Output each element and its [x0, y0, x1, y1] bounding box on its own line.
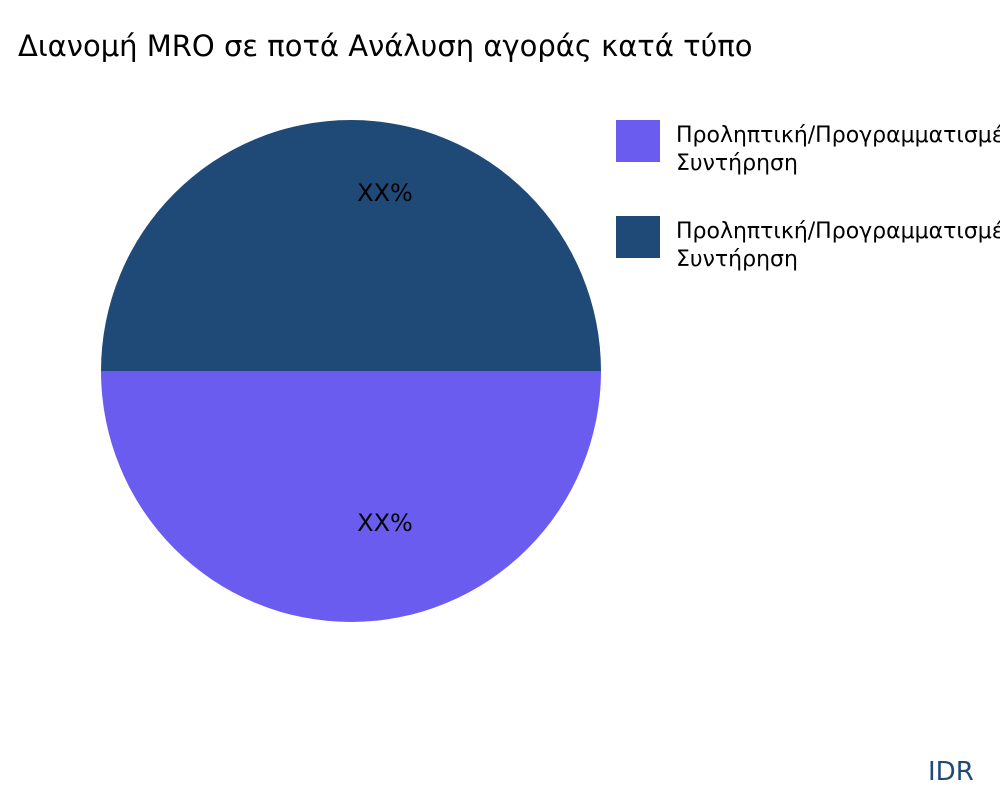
- pie-chart-figure: Διανομή MRO σε ποτά Ανάλυση αγοράς κατά …: [0, 0, 1000, 800]
- legend-item-1[interactable]: Προληπτική/Προγραμματισμένη Συντήρηση: [616, 216, 1000, 274]
- watermark-idr: IDR: [928, 757, 974, 787]
- chart-legend: Προληπτική/Προγραμματισμένη Συντήρηση Πρ…: [616, 120, 1000, 312]
- legend-swatch-preventive-blue-icon: [616, 216, 660, 258]
- legend-label-0: Προληπτική/Προγραμματισμένη Συντήρηση: [676, 120, 1000, 178]
- pie-svg: [101, 120, 601, 622]
- pie-slice-label-purple: XX%: [357, 511, 413, 535]
- pie-slice-dark-blue[interactable]: [101, 120, 601, 371]
- pie-plot-area: XX% XX%: [101, 120, 601, 622]
- legend-label-1: Προληπτική/Προγραμματισμένη Συντήρηση: [676, 216, 1000, 274]
- pie-slice-label-dark-blue: XX%: [357, 181, 413, 205]
- pie-slice-purple[interactable]: [101, 371, 601, 622]
- legend-swatch-preventive-purple-icon: [616, 120, 660, 162]
- legend-item-0[interactable]: Προληπτική/Προγραμματισμένη Συντήρηση: [616, 120, 1000, 178]
- chart-title: Διανομή MRO σε ποτά Ανάλυση αγοράς κατά …: [18, 28, 753, 64]
